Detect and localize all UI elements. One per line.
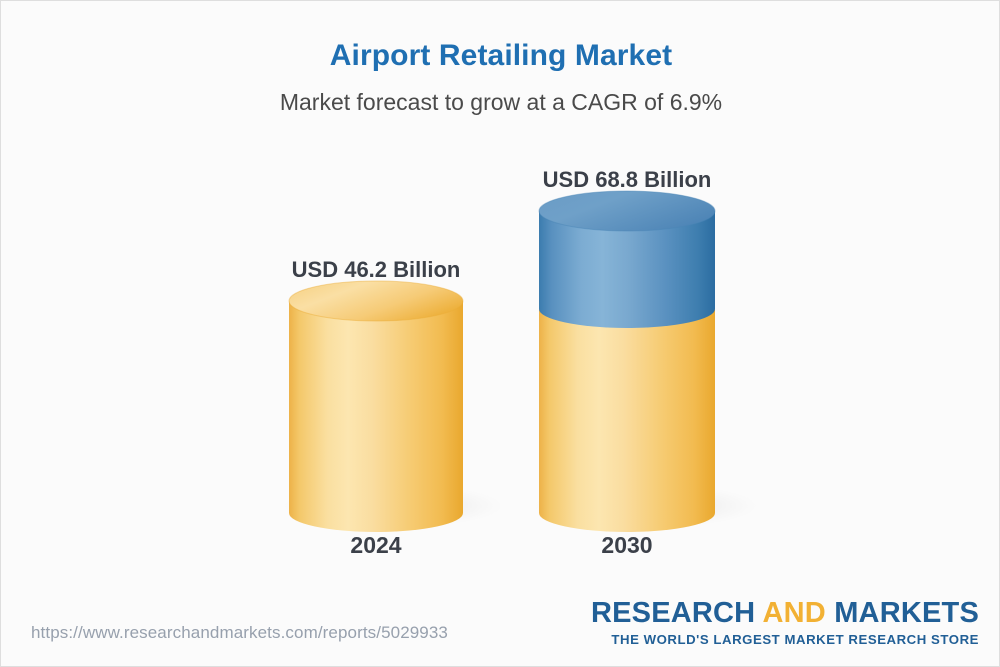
value-label-2024: USD 46.2 Billion (289, 257, 463, 283)
source-url[interactable]: https://www.researchandmarkets.com/repor… (31, 623, 448, 643)
logo-text-research: RESEARCH (591, 597, 763, 629)
brand-logo: RESEARCH AND MARKETS THE WORLD'S LARGEST… (591, 599, 979, 647)
bar-2024-body (289, 301, 463, 532)
logo-text-markets: MARKETS (834, 597, 979, 629)
logo-tagline: THE WORLD'S LARGEST MARKET RESEARCH STOR… (591, 632, 979, 647)
bar-2030 (539, 191, 715, 532)
cylinder-chart-graphics (1, 1, 1000, 667)
chart-canvas: Airport Retailing Market Market forecast… (0, 0, 1000, 667)
logo-text-and: AND (763, 597, 835, 629)
category-label-2030: 2030 (539, 532, 715, 559)
bar-2024 (289, 281, 463, 532)
bar-2030-base-segment (539, 309, 715, 532)
category-label-2024: 2024 (289, 532, 463, 559)
logo-wordmark: RESEARCH AND MARKETS (591, 599, 979, 629)
value-label-2030: USD 68.8 Billion (539, 167, 715, 193)
